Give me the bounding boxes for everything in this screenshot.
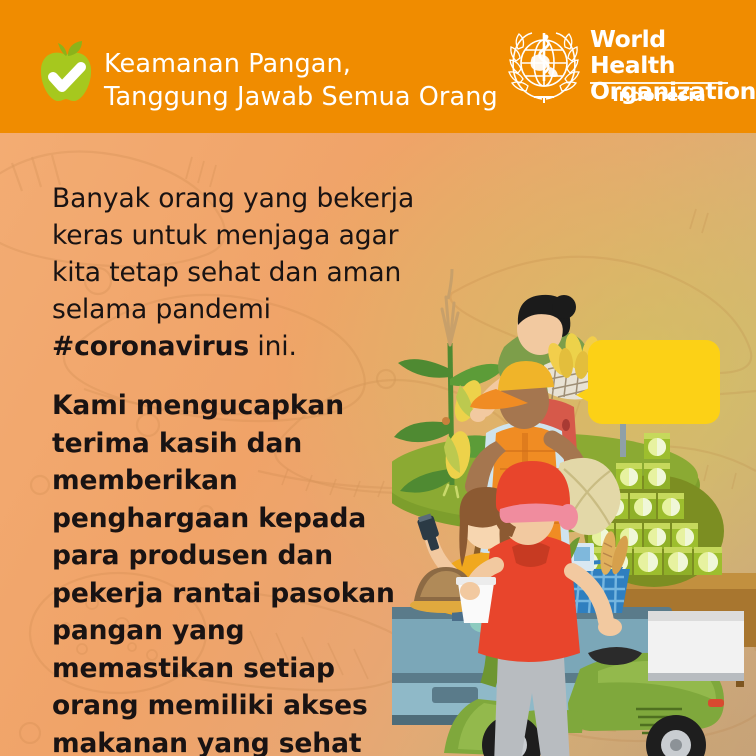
rider-hand	[598, 618, 622, 636]
rider-hand	[460, 582, 480, 600]
crate	[694, 547, 722, 575]
crate	[616, 463, 642, 489]
who-emblem-icon	[506, 25, 582, 105]
crate	[672, 523, 698, 549]
crate	[644, 523, 670, 549]
paragraph-1-text-a: Banyak orang yang bekerja keras untuk me…	[52, 183, 414, 325]
delivery-box	[648, 611, 744, 681]
hair-bun	[552, 295, 576, 319]
poster-copy: Banyak orang yang bekerja keras untuk me…	[52, 180, 424, 756]
who-country-label: Indonesia	[590, 86, 728, 106]
crate	[658, 493, 684, 519]
paragraph-1-text-b: ini.	[249, 331, 297, 362]
supply-chain-illustration	[392, 133, 756, 756]
crate	[630, 493, 656, 519]
tail-light	[708, 699, 724, 707]
crate	[644, 463, 670, 489]
helmet-earpad	[558, 504, 578, 530]
paragraph-intro: Banyak orang yang bekerja keras untuk me…	[52, 180, 424, 365]
logo-divider	[590, 82, 728, 84]
crate	[634, 547, 662, 575]
poster-header: Keamanan Pangan, Tanggung Jawab Semua Or…	[0, 0, 756, 133]
poster-canvas: Banyak orang yang bekerja keras untuk me…	[0, 0, 756, 756]
coronavirus-hashtag: #coronavirus	[52, 331, 249, 362]
crate	[664, 547, 692, 575]
crate	[644, 433, 670, 459]
green-apple-with-checkmark-icon	[38, 41, 94, 103]
helmet-band	[500, 503, 569, 523]
page-title: Keamanan Pangan, Tanggung Jawab Semua Or…	[104, 48, 524, 114]
who-logo: World Health Organization Indonesia	[506, 22, 732, 114]
farmer-hand	[470, 408, 486, 422]
paragraph-thanks: Kami mengucapkan terima kasih dan member…	[52, 387, 424, 756]
